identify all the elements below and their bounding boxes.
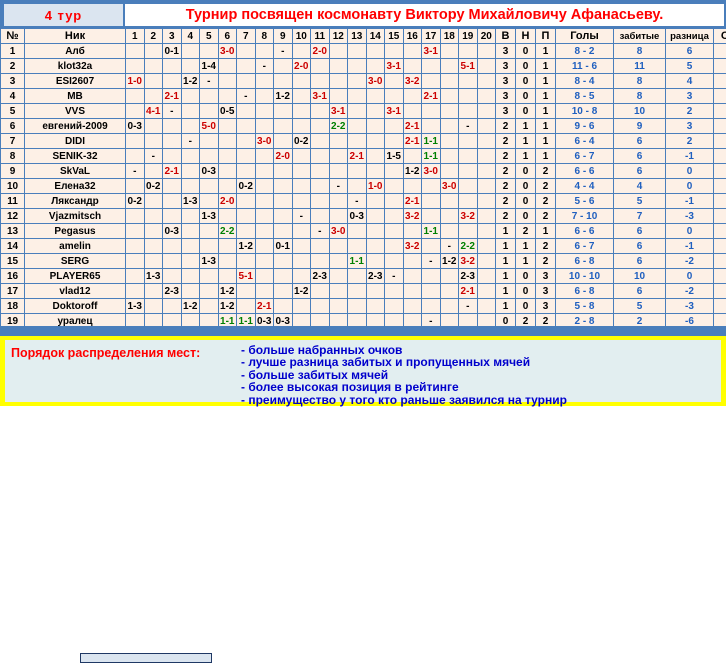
match-cell[interactable] (144, 239, 163, 254)
match-cell[interactable] (218, 134, 237, 149)
match-cell[interactable] (144, 194, 163, 209)
match-cell[interactable] (163, 179, 182, 194)
match-cell[interactable] (385, 134, 404, 149)
match-cell[interactable] (126, 224, 145, 239)
match-cell[interactable]: 3-0 (218, 44, 237, 59)
column-header-opponent-20[interactable]: 20 (477, 29, 496, 44)
match-cell[interactable] (255, 89, 274, 104)
match-cell[interactable] (422, 119, 441, 134)
match-cell[interactable]: 2-3 (366, 269, 385, 284)
match-cell[interactable] (348, 164, 367, 179)
match-cell[interactable] (348, 239, 367, 254)
match-cell[interactable] (181, 119, 200, 134)
match-cell[interactable] (200, 239, 219, 254)
column-header-opponent-1[interactable]: 1 (126, 29, 145, 44)
match-cell[interactable] (218, 74, 237, 89)
match-cell[interactable]: 2-1 (403, 134, 422, 149)
match-cell[interactable]: 3-0 (366, 74, 385, 89)
player-nick[interactable]: Vjazmitsch (25, 209, 126, 224)
player-nick[interactable]: PLAYER65 (25, 269, 126, 284)
match-cell[interactable]: 0-5 (218, 104, 237, 119)
player-nick[interactable]: SkVaL (25, 164, 126, 179)
match-cell[interactable] (144, 74, 163, 89)
match-cell[interactable] (144, 164, 163, 179)
match-cell[interactable] (292, 164, 311, 179)
match-cell[interactable] (440, 44, 459, 59)
match-cell[interactable] (181, 59, 200, 74)
match-cell[interactable] (385, 284, 404, 299)
match-cell[interactable] (126, 89, 145, 104)
match-cell[interactable]: 2-1 (403, 194, 422, 209)
match-cell[interactable] (292, 119, 311, 134)
match-cell[interactable] (292, 239, 311, 254)
match-cell[interactable]: 1-2 (237, 239, 256, 254)
table-row[interactable]: 9SkVaL-2-10-31-23-02026 - 6606 (1, 164, 726, 179)
match-cell[interactable]: 1-0 (366, 179, 385, 194)
match-cell[interactable] (329, 239, 348, 254)
match-cell[interactable]: 1-1 (348, 254, 367, 269)
match-cell[interactable] (477, 74, 496, 89)
match-cell[interactable] (422, 194, 441, 209)
match-cell[interactable] (181, 164, 200, 179)
match-cell[interactable]: - (237, 89, 256, 104)
match-cell[interactable] (348, 59, 367, 74)
player-nick[interactable]: amelin (25, 239, 126, 254)
player-nick[interactable]: Ляксандр (25, 194, 126, 209)
match-cell[interactable]: 2-2 (218, 224, 237, 239)
match-cell[interactable]: 1-2 (403, 164, 422, 179)
match-cell[interactable] (403, 299, 422, 314)
match-cell[interactable] (311, 179, 330, 194)
match-cell[interactable] (459, 224, 478, 239)
match-cell[interactable] (200, 149, 219, 164)
match-cell[interactable]: 1-1 (422, 149, 441, 164)
column-header-points[interactable]: Очки (714, 29, 726, 44)
match-cell[interactable] (477, 224, 496, 239)
match-cell[interactable]: 2-0 (218, 194, 237, 209)
match-cell[interactable]: 2-1 (163, 164, 182, 179)
match-cell[interactable] (181, 44, 200, 59)
match-cell[interactable]: - (459, 119, 478, 134)
match-cell[interactable]: 5-1 (459, 59, 478, 74)
match-cell[interactable] (459, 104, 478, 119)
match-cell[interactable] (440, 74, 459, 89)
match-cell[interactable]: 0-2 (126, 194, 145, 209)
column-header-diff[interactable]: разница (666, 29, 714, 44)
match-cell[interactable] (329, 164, 348, 179)
match-cell[interactable] (440, 164, 459, 179)
column-header-goals[interactable]: Голы (556, 29, 614, 44)
match-cell[interactable] (163, 194, 182, 209)
match-cell[interactable]: 0-1 (163, 44, 182, 59)
match-cell[interactable] (237, 194, 256, 209)
player-nick[interactable]: DIDI (25, 134, 126, 149)
table-row[interactable]: 5VVS4-1-0-53-13-130110 - 81029 (1, 104, 726, 119)
match-cell[interactable] (274, 59, 293, 74)
match-cell[interactable]: 0-3 (200, 164, 219, 179)
table-row[interactable]: 14amelin1-20-13-2-2-21126 - 76-14 (1, 239, 726, 254)
match-cell[interactable] (200, 134, 219, 149)
match-cell[interactable] (311, 209, 330, 224)
match-cell[interactable]: 3-2 (403, 239, 422, 254)
match-cell[interactable] (237, 119, 256, 134)
match-cell[interactable] (144, 209, 163, 224)
match-cell[interactable] (292, 299, 311, 314)
table-row[interactable]: 6евгений-20090-35-02-22-1-2119 - 6937 (1, 119, 726, 134)
table-row[interactable]: 17vlad122-31-21-22-11036 - 86-23 (1, 284, 726, 299)
match-cell[interactable]: 2-3 (163, 284, 182, 299)
column-header-opponent-4[interactable]: 4 (181, 29, 200, 44)
match-cell[interactable]: - (459, 299, 478, 314)
match-cell[interactable]: - (440, 239, 459, 254)
match-cell[interactable] (329, 149, 348, 164)
match-cell[interactable] (329, 269, 348, 284)
match-cell[interactable] (218, 89, 237, 104)
match-cell[interactable] (422, 179, 441, 194)
match-cell[interactable] (200, 44, 219, 59)
match-cell[interactable]: 3-2 (403, 209, 422, 224)
match-cell[interactable] (311, 299, 330, 314)
match-cell[interactable] (144, 44, 163, 59)
column-header-opponent-2[interactable]: 2 (144, 29, 163, 44)
match-cell[interactable]: 0-1 (274, 239, 293, 254)
match-cell[interactable]: 3-0 (440, 179, 459, 194)
match-cell[interactable] (144, 284, 163, 299)
column-header-opponent-10[interactable]: 10 (292, 29, 311, 44)
match-cell[interactable] (292, 254, 311, 269)
match-cell[interactable] (255, 284, 274, 299)
match-cell[interactable] (255, 239, 274, 254)
match-cell[interactable] (366, 284, 385, 299)
match-cell[interactable] (403, 284, 422, 299)
match-cell[interactable] (292, 104, 311, 119)
column-header-opponent-6[interactable]: 6 (218, 29, 237, 44)
column-header-scored[interactable]: забитые (614, 29, 666, 44)
match-cell[interactable] (403, 254, 422, 269)
match-cell[interactable]: 1-5 (385, 149, 404, 164)
match-cell[interactable]: 1-3 (200, 209, 219, 224)
match-cell[interactable] (274, 299, 293, 314)
match-cell[interactable] (329, 44, 348, 59)
match-cell[interactable]: 1-2 (440, 254, 459, 269)
match-cell[interactable] (255, 164, 274, 179)
match-cell[interactable] (403, 44, 422, 59)
match-cell[interactable] (385, 164, 404, 179)
column-header-opponent-16[interactable]: 16 (403, 29, 422, 44)
match-cell[interactable] (422, 59, 441, 74)
match-cell[interactable] (126, 239, 145, 254)
match-cell[interactable] (181, 239, 200, 254)
match-cell[interactable] (237, 74, 256, 89)
match-cell[interactable] (163, 59, 182, 74)
match-cell[interactable] (403, 59, 422, 74)
column-header-opponent-15[interactable]: 15 (385, 29, 404, 44)
match-cell[interactable] (200, 89, 219, 104)
match-cell[interactable] (477, 239, 496, 254)
match-cell[interactable] (181, 104, 200, 119)
column-header-wins[interactable]: В (496, 29, 516, 44)
match-cell[interactable] (385, 239, 404, 254)
match-cell[interactable] (385, 179, 404, 194)
match-cell[interactable] (181, 269, 200, 284)
column-header-opponent-8[interactable]: 8 (255, 29, 274, 44)
player-nick[interactable]: Doktoroff (25, 299, 126, 314)
match-cell[interactable] (163, 119, 182, 134)
match-cell[interactable]: 0-3 (348, 209, 367, 224)
match-cell[interactable]: - (329, 179, 348, 194)
match-cell[interactable] (477, 209, 496, 224)
match-cell[interactable]: 1-3 (181, 194, 200, 209)
match-cell[interactable] (163, 134, 182, 149)
match-cell[interactable] (255, 44, 274, 59)
match-cell[interactable] (348, 269, 367, 284)
match-cell[interactable]: 1-2 (292, 284, 311, 299)
match-cell[interactable] (255, 74, 274, 89)
player-nick[interactable]: klot32a (25, 59, 126, 74)
match-cell[interactable] (255, 269, 274, 284)
table-row[interactable]: 11Ляксандр0-21-32-0-2-12025 - 65-16 (1, 194, 726, 209)
match-cell[interactable] (366, 59, 385, 74)
table-row[interactable]: 3ESI26071-01-2-3-03-23018 - 4849 (1, 74, 726, 89)
match-cell[interactable] (366, 224, 385, 239)
player-nick[interactable]: SENIK-32 (25, 149, 126, 164)
match-cell[interactable]: 2-0 (292, 59, 311, 74)
table-row[interactable]: 12Vjazmitsch1-3-0-33-23-22027 - 107-36 (1, 209, 726, 224)
match-cell[interactable]: 0-3 (163, 224, 182, 239)
match-cell[interactable] (477, 164, 496, 179)
match-cell[interactable] (274, 269, 293, 284)
match-cell[interactable] (403, 89, 422, 104)
match-cell[interactable] (348, 104, 367, 119)
match-cell[interactable] (126, 59, 145, 74)
match-cell[interactable] (181, 224, 200, 239)
player-nick[interactable]: MB (25, 89, 126, 104)
match-cell[interactable] (329, 74, 348, 89)
match-cell[interactable] (218, 269, 237, 284)
match-cell[interactable] (237, 224, 256, 239)
match-cell[interactable] (366, 89, 385, 104)
match-cell[interactable] (218, 164, 237, 179)
column-header-opponent-11[interactable]: 11 (311, 29, 330, 44)
match-cell[interactable]: - (126, 164, 145, 179)
table-row[interactable]: 13Pegasus0-32-2-3-01-11216 - 6605 (1, 224, 726, 239)
match-cell[interactable] (237, 164, 256, 179)
match-cell[interactable]: 1-3 (144, 269, 163, 284)
match-cell[interactable] (311, 74, 330, 89)
match-cell[interactable] (237, 209, 256, 224)
column-header-opponent-7[interactable]: 7 (237, 29, 256, 44)
match-cell[interactable]: - (181, 134, 200, 149)
match-cell[interactable] (311, 164, 330, 179)
match-cell[interactable] (385, 224, 404, 239)
column-header-opponent-13[interactable]: 13 (348, 29, 367, 44)
match-cell[interactable] (422, 104, 441, 119)
match-cell[interactable] (274, 74, 293, 89)
match-cell[interactable] (403, 149, 422, 164)
column-header-opponent-19[interactable]: 19 (459, 29, 478, 44)
match-cell[interactable]: 2-1 (163, 89, 182, 104)
match-cell[interactable]: - (255, 59, 274, 74)
match-cell[interactable] (181, 179, 200, 194)
column-header-opponent-5[interactable]: 5 (200, 29, 219, 44)
match-cell[interactable]: - (163, 104, 182, 119)
column-header-losses[interactable]: П (536, 29, 556, 44)
match-cell[interactable] (218, 254, 237, 269)
match-cell[interactable] (126, 209, 145, 224)
match-cell[interactable] (477, 119, 496, 134)
match-cell[interactable] (237, 284, 256, 299)
match-cell[interactable] (366, 119, 385, 134)
match-cell[interactable] (274, 104, 293, 119)
match-cell[interactable]: 5-1 (237, 269, 256, 284)
column-header-draws[interactable]: Н (516, 29, 536, 44)
table-row[interactable]: 16PLAYER651-35-12-32-3-2-310310 - 101003 (1, 269, 726, 284)
match-cell[interactable]: 2-1 (422, 89, 441, 104)
match-cell[interactable] (329, 254, 348, 269)
match-cell[interactable]: 2-0 (274, 149, 293, 164)
match-cell[interactable] (459, 179, 478, 194)
match-cell[interactable] (366, 104, 385, 119)
match-cell[interactable] (311, 59, 330, 74)
match-cell[interactable] (200, 284, 219, 299)
match-cell[interactable] (422, 74, 441, 89)
match-cell[interactable] (348, 179, 367, 194)
table-row[interactable]: 10Елена320-20-2-1-03-02024 - 4406 (1, 179, 726, 194)
match-cell[interactable]: 1-0 (126, 74, 145, 89)
match-cell[interactable] (403, 224, 422, 239)
horizontal-scrollbar-track[interactable] (0, 326, 726, 336)
match-cell[interactable] (440, 59, 459, 74)
match-cell[interactable] (255, 254, 274, 269)
match-cell[interactable] (144, 224, 163, 239)
match-cell[interactable] (292, 194, 311, 209)
match-cell[interactable]: 3-1 (385, 59, 404, 74)
column-header-opponent-3[interactable]: 3 (163, 29, 182, 44)
match-cell[interactable]: 1-2 (218, 284, 237, 299)
match-cell[interactable] (366, 299, 385, 314)
match-cell[interactable] (477, 89, 496, 104)
match-cell[interactable] (200, 179, 219, 194)
match-cell[interactable] (329, 299, 348, 314)
table-row[interactable]: 4MB2-1-1-23-12-13018 - 5839 (1, 89, 726, 104)
match-cell[interactable] (422, 209, 441, 224)
match-cell[interactable] (237, 149, 256, 164)
match-cell[interactable]: 2-2 (459, 239, 478, 254)
match-cell[interactable] (144, 119, 163, 134)
match-cell[interactable] (366, 44, 385, 59)
column-header-opponent-14[interactable]: 14 (366, 29, 385, 44)
match-cell[interactable] (255, 179, 274, 194)
match-cell[interactable] (311, 104, 330, 119)
match-cell[interactable] (440, 224, 459, 239)
match-cell[interactable]: 3-2 (459, 254, 478, 269)
player-nick[interactable]: евгений-2009 (25, 119, 126, 134)
table-row[interactable]: 1Алб0-13-0-2-03-13018 - 2869 (1, 44, 726, 59)
match-cell[interactable] (126, 284, 145, 299)
match-cell[interactable] (126, 269, 145, 284)
match-cell[interactable] (144, 299, 163, 314)
player-nick[interactable]: Алб (25, 44, 126, 59)
match-cell[interactable] (422, 299, 441, 314)
match-cell[interactable] (311, 134, 330, 149)
match-cell[interactable] (274, 224, 293, 239)
match-cell[interactable] (218, 59, 237, 74)
match-cell[interactable] (163, 149, 182, 164)
column-header-opponent-17[interactable]: 17 (422, 29, 441, 44)
player-nick[interactable]: Pegasus (25, 224, 126, 239)
match-cell[interactable] (237, 299, 256, 314)
match-cell[interactable] (255, 224, 274, 239)
match-cell[interactable] (237, 59, 256, 74)
match-cell[interactable] (237, 44, 256, 59)
match-cell[interactable] (163, 239, 182, 254)
match-cell[interactable]: 3-0 (255, 134, 274, 149)
match-cell[interactable] (274, 179, 293, 194)
table-row[interactable]: 7DIDI-3-00-22-11-12116 - 4627 (1, 134, 726, 149)
match-cell[interactable] (385, 44, 404, 59)
match-cell[interactable] (422, 239, 441, 254)
match-cell[interactable]: 2-0 (311, 44, 330, 59)
match-cell[interactable] (329, 194, 348, 209)
match-cell[interactable]: 3-1 (329, 104, 348, 119)
match-cell[interactable] (329, 134, 348, 149)
match-cell[interactable] (440, 134, 459, 149)
match-cell[interactable]: 3-1 (311, 89, 330, 104)
match-cell[interactable] (477, 134, 496, 149)
match-cell[interactable] (311, 254, 330, 269)
match-cell[interactable] (329, 59, 348, 74)
match-cell[interactable] (274, 119, 293, 134)
match-cell[interactable] (255, 119, 274, 134)
table-row[interactable]: 15SERG1-31-1-1-23-21126 - 86-24 (1, 254, 726, 269)
standings-table-container[interactable]: №Ник1234567891011121314151617181920ВНПГо… (0, 28, 726, 326)
column-header-opponent-9[interactable]: 9 (274, 29, 293, 44)
match-cell[interactable] (477, 44, 496, 59)
match-cell[interactable] (200, 224, 219, 239)
match-cell[interactable] (366, 164, 385, 179)
match-cell[interactable] (366, 149, 385, 164)
match-cell[interactable] (292, 89, 311, 104)
match-cell[interactable] (181, 284, 200, 299)
match-cell[interactable]: 3-0 (422, 164, 441, 179)
match-cell[interactable] (477, 284, 496, 299)
match-cell[interactable] (218, 149, 237, 164)
match-cell[interactable] (348, 299, 367, 314)
match-cell[interactable]: 0-3 (126, 119, 145, 134)
player-nick[interactable]: ESI2607 (25, 74, 126, 89)
match-cell[interactable] (311, 239, 330, 254)
match-cell[interactable] (385, 89, 404, 104)
match-cell[interactable] (366, 194, 385, 209)
match-cell[interactable]: 3-2 (459, 209, 478, 224)
match-cell[interactable] (477, 254, 496, 269)
match-cell[interactable]: 2-3 (459, 269, 478, 284)
match-cell[interactable] (329, 284, 348, 299)
match-cell[interactable] (274, 254, 293, 269)
match-cell[interactable]: 0-2 (292, 134, 311, 149)
table-row[interactable]: 8SENIK-32-2-02-11-51-12116 - 76-17 (1, 149, 726, 164)
match-cell[interactable] (440, 89, 459, 104)
match-cell[interactable] (459, 194, 478, 209)
match-cell[interactable] (459, 164, 478, 179)
match-cell[interactable] (459, 44, 478, 59)
match-cell[interactable] (440, 194, 459, 209)
match-cell[interactable] (459, 89, 478, 104)
match-cell[interactable]: - (200, 74, 219, 89)
match-cell[interactable]: 1-3 (200, 254, 219, 269)
match-cell[interactable] (200, 194, 219, 209)
match-cell[interactable] (163, 299, 182, 314)
